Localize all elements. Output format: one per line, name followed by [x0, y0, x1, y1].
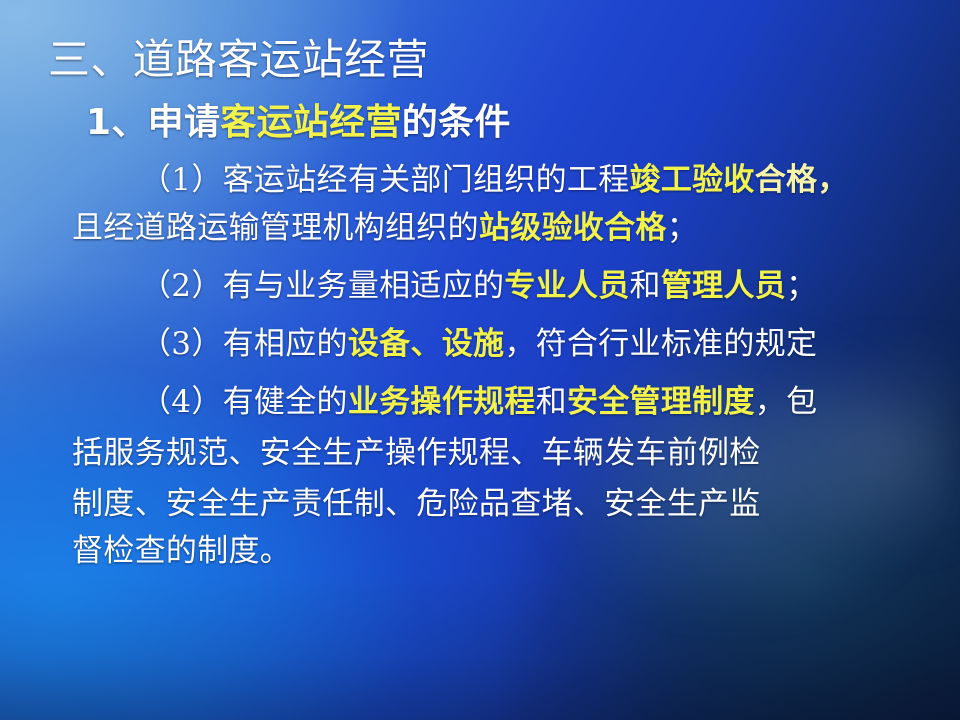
subtitle-number: 1、	[86, 102, 148, 143]
bullet-item-4-line-1: （4）有健全的业务操作规程和安全管理制度，包	[140, 385, 817, 420]
bullet-item-3: （3）有相应的设备、设施，符合行业标准的规定	[140, 327, 817, 362]
bullet-3-text-a: 有相应的	[223, 326, 348, 362]
slide-content: 三、道路客运站经营 1、申请客运站经营的条件 （1）客运站经有关部门组织的工程竣…	[0, 0, 960, 720]
bullet-item-4-line-3: 制度、安全生产责任制、危险品查堵、安全生产监	[72, 487, 761, 522]
bullet-item-1-line-2: 且经道路运输管理机构组织的站级验收合格；	[72, 211, 698, 246]
bullet-4-highlight-a: 业务操作规程	[348, 384, 536, 420]
bullet-marker-2: （2）	[140, 268, 223, 304]
bullet-marker-3: （3）	[140, 326, 223, 362]
bullet-item-4-line-4: 督检查的制度。	[72, 534, 291, 569]
bullet-4-text-a: 有健全的	[223, 384, 348, 420]
bullet-item-1-line-1: （1）客运站经有关部门组织的工程竣工验收合格，	[140, 163, 849, 198]
slide-subtitle: 1、申请客运站经营的条件	[86, 103, 511, 143]
bullet-3-text-b: ，符合行业标准的规定	[504, 326, 817, 362]
bullet-item-4-line-2: 括服务规范、安全生产操作规程、车辆发车前例检	[72, 436, 761, 471]
slide-title-text: 三、道路客运站经营	[48, 35, 429, 84]
presentation-slide: 三、道路客运站经营 1、申请客运站经营的条件 （1）客运站经有关部门组织的工程竣…	[0, 0, 960, 720]
slide-title: 三、道路客运站经营	[48, 37, 429, 83]
bullet-1-text-a: 客运站经有关部门组织的工程	[223, 162, 630, 198]
bullet-item-2: （2）有与业务量相适应的专业人员和管理人员；	[140, 269, 817, 304]
bullet-1-text-c: ；	[667, 210, 698, 246]
bullet-2-text-b: 和	[630, 268, 661, 304]
bullet-2-text-c: ；	[786, 268, 817, 304]
bullet-4-line-3-text: 制度、安全生产责任制、危险品查堵、安全生产监	[72, 486, 761, 522]
bullet-4-text-c: ，包	[755, 384, 818, 420]
bullet-1-highlight-c: 站级验收合格	[479, 210, 667, 246]
bullet-2-highlight-a: 专业人员	[504, 268, 629, 304]
bullet-marker-1: （1）	[140, 162, 223, 198]
bullet-1-highlight-a: 竣工验收	[630, 162, 755, 198]
bullet-2-highlight-b: 管理人员	[661, 268, 786, 304]
bullet-1-text-b: 且经道路运输管理机构组织的	[72, 210, 479, 246]
bullet-4-line-4-text: 督检查的制度。	[72, 533, 291, 569]
bullet-4-text-b: 和	[536, 384, 567, 420]
subtitle-highlight: 客运站经营	[220, 101, 402, 143]
bullet-3-highlight-a: 设备、设施	[348, 326, 505, 362]
bullet-marker-4: （4）	[140, 384, 223, 420]
bullet-1-highlight-b: 合格，	[755, 162, 849, 198]
bullet-4-highlight-b: 安全管理制度	[567, 384, 755, 420]
bullet-4-line-2-text: 括服务规范、安全生产操作规程、车辆发车前例检	[72, 435, 761, 471]
subtitle-text-after: 的条件	[402, 101, 511, 143]
bullet-2-text-a: 有与业务量相适应的	[223, 268, 505, 304]
subtitle-text-before: 申请	[148, 101, 221, 143]
